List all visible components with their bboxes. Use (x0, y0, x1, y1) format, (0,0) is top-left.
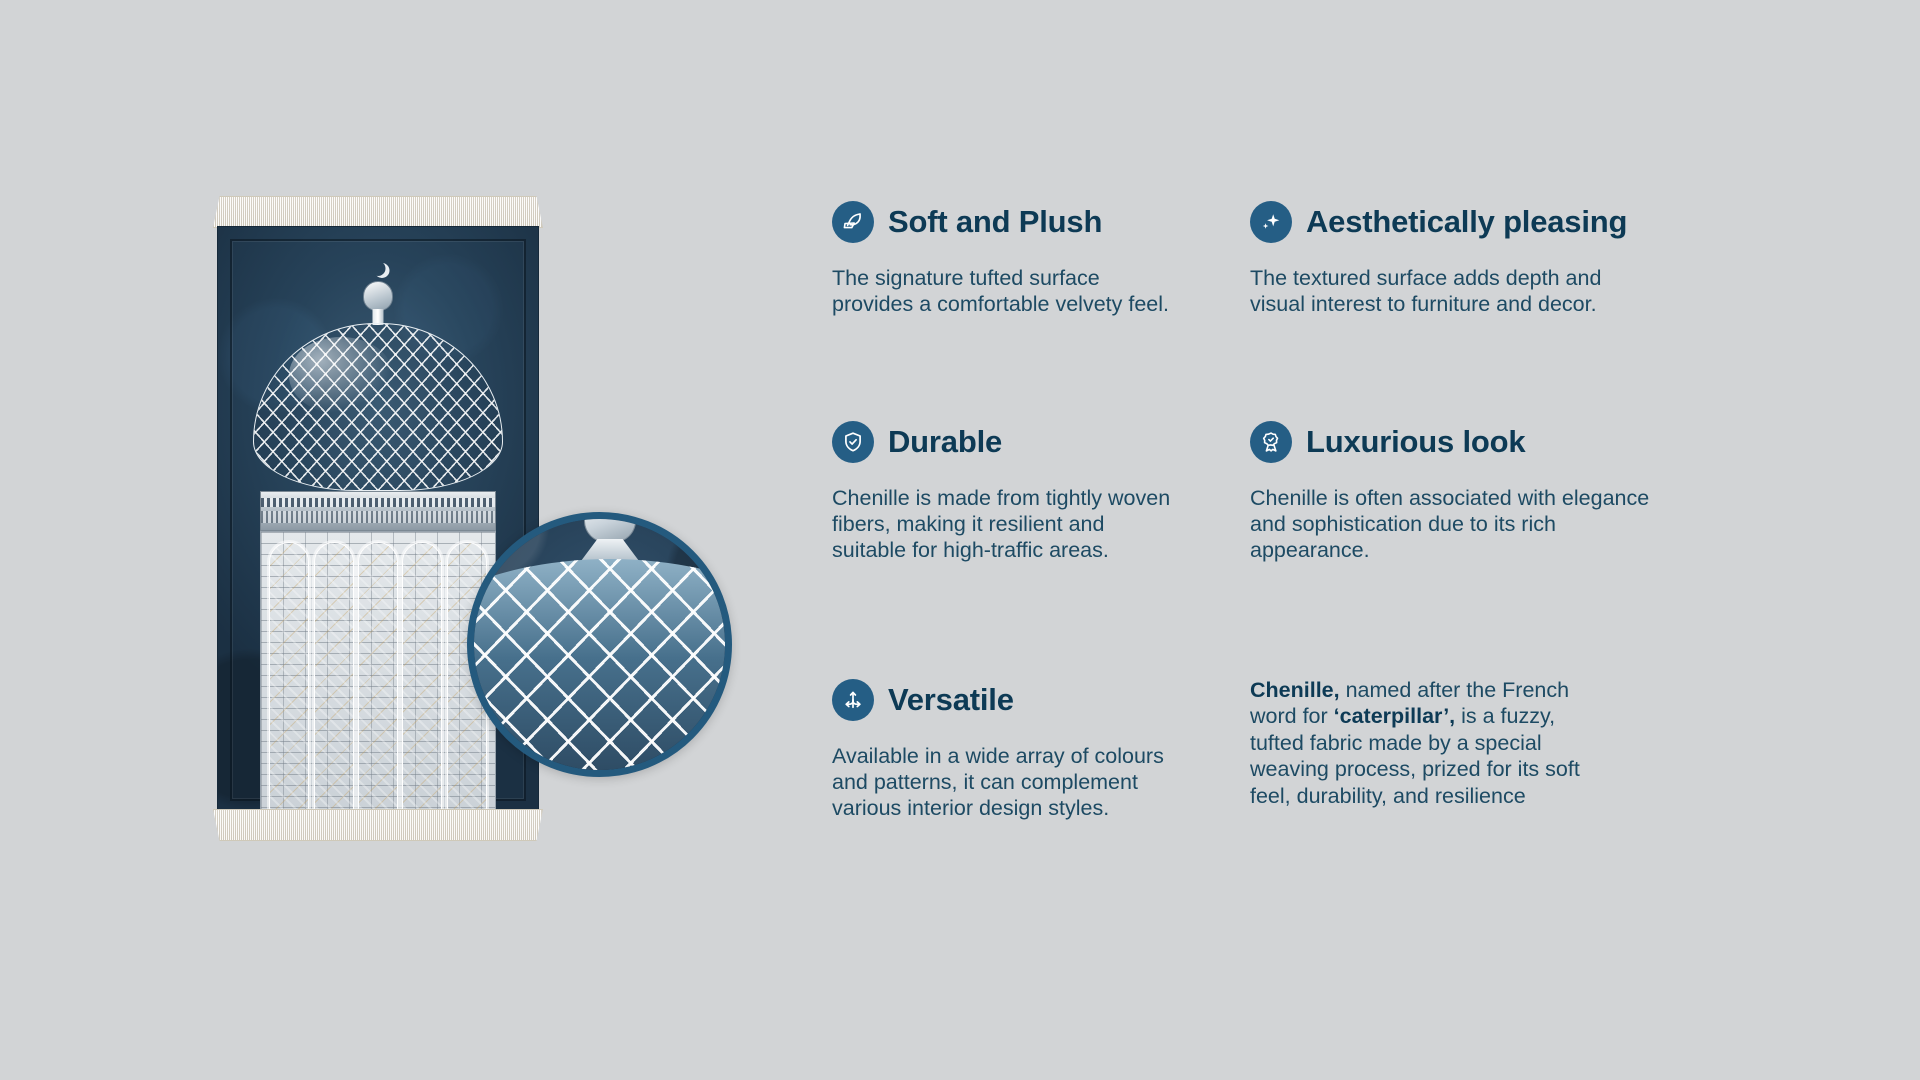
mosque-dome-illustration (253, 261, 503, 812)
feature-description: Chenille is made from tightly woven fibe… (832, 486, 1172, 563)
sparkle-icon (1250, 201, 1292, 243)
feature-header: Versatile (832, 674, 1210, 726)
shield-check-icon (832, 421, 874, 463)
feature-title: Durable (888, 424, 1002, 460)
award-badge-icon (1250, 421, 1292, 463)
magnifier-scene (467, 512, 732, 777)
feature-title: Versatile (888, 682, 1014, 718)
rug-fringe-top (213, 196, 543, 228)
feature-block-durable: Durable Chenille is made from tightly wo… (832, 416, 1250, 674)
rug-fringe-bottom (213, 809, 543, 841)
feature-header: Aesthetically pleasing (1250, 196, 1750, 248)
feature-description: Available in a wide array of colours and… (832, 744, 1172, 821)
feature-header: Luxurious look (1250, 416, 1750, 468)
feature-block-soft-and-plush: Soft and Plush The signature tufted surf… (832, 196, 1250, 416)
feature-block-versatile: Versatile Available in a wide array of c… (832, 674, 1250, 821)
feature-block-luxurious-look: Luxurious look Chenille is often associa… (1250, 416, 1750, 674)
feature-title: Aesthetically pleasing (1306, 204, 1627, 240)
feature-header: Durable (832, 416, 1210, 468)
mosaic-arch (314, 542, 354, 812)
crescent-icon (371, 261, 386, 276)
dome-finial (253, 261, 503, 327)
feature-description: The textured surface adds depth and visu… (1250, 266, 1650, 318)
features-grid: Soft and Plush The signature tufted surf… (832, 196, 1832, 821)
mosque-tower-wall (260, 531, 496, 812)
definition-term: Chenille, (1250, 678, 1340, 702)
feature-title: Luxurious look (1306, 424, 1525, 460)
chenille-definition: Chenille, named after the French word fo… (1250, 677, 1580, 809)
dome-drum-band (260, 491, 496, 531)
definition-emphasis: ‘caterpillar’, (1334, 704, 1456, 728)
definition-block: Chenille, named after the French word fo… (1250, 674, 1750, 821)
feature-description: The signature tufted surface provides a … (832, 266, 1172, 318)
feature-description: Chenille is often associated with elegan… (1250, 486, 1650, 563)
infographic-page: Soft and Plush The signature tufted surf… (0, 0, 1920, 1080)
feature-block-aesthetically-pleasing: Aesthetically pleasing The textured surf… (1250, 196, 1750, 416)
dome-highlight (289, 337, 393, 413)
magnifier-callout (467, 512, 732, 777)
mosaic-arch (269, 542, 309, 812)
mosaic-arch (358, 542, 398, 812)
magnified-dome-tufting (467, 559, 732, 777)
finial-bulb (363, 281, 393, 311)
feature-title: Soft and Plush (888, 204, 1102, 240)
dome-roof (253, 323, 503, 491)
feature-header: Soft and Plush (832, 196, 1210, 248)
mosaic-arch (402, 542, 442, 812)
multi-direction-arrows-icon (832, 679, 874, 721)
feather-quill-icon (832, 201, 874, 243)
finial-bulb-detail (584, 512, 636, 543)
